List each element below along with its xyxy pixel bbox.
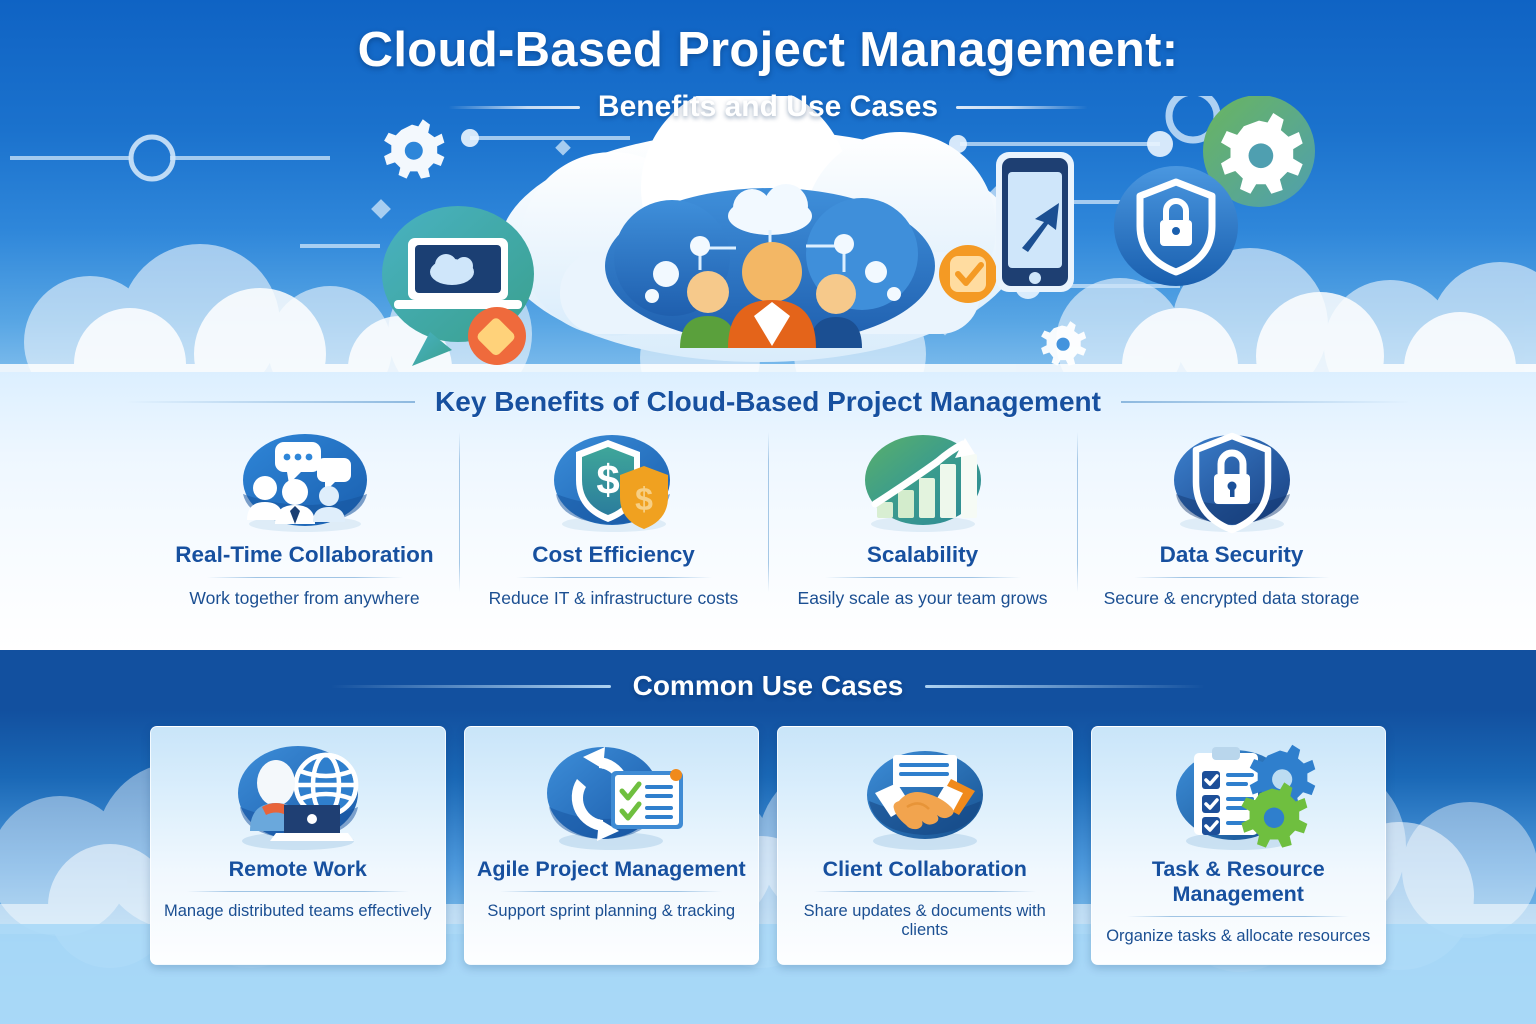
divider [1127, 916, 1349, 917]
shield-lock-icon [1114, 166, 1238, 286]
divider [1134, 577, 1330, 578]
divider [814, 891, 1036, 892]
growth-chart-icon [778, 426, 1067, 538]
usecase-desc: Manage distributed teams effectively [159, 902, 437, 921]
usecases-section: Common Use Cases [0, 650, 1536, 1024]
divider [500, 891, 722, 892]
shield-lock-icon [1087, 426, 1376, 538]
divider [516, 577, 712, 578]
rule-left [448, 106, 580, 109]
usecases-grid: Remote Work Manage distributed teams eff… [0, 702, 1536, 965]
benefits-heading-row: Key Benefits of Cloud-Based Project Mana… [0, 372, 1536, 418]
usecase-title: Remote Work [159, 857, 437, 882]
benefit-desc: Secure & encrypted data storage [1087, 588, 1376, 609]
clipboard-gears-icon [1100, 739, 1378, 855]
usecase-desc: Organize tasks & allocate resources [1100, 927, 1378, 946]
check-circle-icon [939, 245, 997, 303]
benefits-grid: Real-Time Collaboration Work together fr… [0, 426, 1536, 609]
shield-dollar-icon: $ $ [469, 426, 758, 538]
rule-right [956, 106, 1088, 109]
hero-section: Cloud-Based Project Management: Benefits… [0, 0, 1536, 372]
benefit-title: Cost Efficiency [469, 542, 758, 568]
benefit-desc: Reduce IT & infrastructure costs [469, 588, 758, 609]
usecase-desc: Support sprint planning & tracking [473, 902, 751, 921]
benefit-item-cost-efficiency[interactable]: $ $ Cost Efficiency Reduce IT & infrastr… [459, 426, 768, 609]
sync-checklist-icon [473, 739, 751, 855]
benefits-heading: Key Benefits of Cloud-Based Project Mana… [435, 386, 1101, 418]
hero-title-block: Cloud-Based Project Management: Benefits… [0, 0, 1536, 124]
benefit-title: Real-Time Collaboration [160, 542, 449, 568]
benefit-title: Data Security [1087, 542, 1376, 568]
hero-subtitle-row: Benefits and Use Cases [0, 90, 1536, 124]
divider [207, 577, 403, 578]
rule-left [125, 401, 415, 403]
divider [187, 891, 409, 892]
usecase-title: Client Collaboration [786, 857, 1064, 882]
usecase-card-remote-work[interactable]: Remote Work Manage distributed teams eff… [150, 726, 446, 965]
usecase-card-agile[interactable]: Agile Project Management Support sprint … [464, 726, 760, 965]
rule-right [1121, 401, 1411, 403]
usecases-heading-row: Common Use Cases [0, 650, 1536, 702]
svg-text:$: $ [635, 481, 653, 517]
rule-left [331, 685, 611, 688]
handshake-document-icon [786, 739, 1064, 855]
divider [825, 577, 1021, 578]
remote-worker-globe-icon [159, 739, 437, 855]
benefit-item-scalability[interactable]: Scalability Easily scale as your team gr… [768, 426, 1077, 609]
benefit-desc: Work together from anywhere [160, 588, 449, 609]
svg-text:$: $ [596, 456, 619, 503]
page-subtitle: Benefits and Use Cases [598, 90, 938, 124]
usecase-card-task-resource[interactable]: Task & Resource Management Organize task… [1091, 726, 1387, 965]
benefit-desc: Easily scale as your team grows [778, 588, 1067, 609]
usecases-heading: Common Use Cases [633, 670, 904, 702]
benefit-item-collaboration[interactable]: Real-Time Collaboration Work together fr… [150, 426, 459, 609]
checkmark-badge-icon [468, 307, 526, 365]
usecase-desc: Share updates & documents with clients [786, 902, 1064, 940]
usecase-card-client-collaboration[interactable]: Client Collaboration Share updates & doc… [777, 726, 1073, 965]
benefit-item-data-security[interactable]: Data Security Secure & encrypted data st… [1077, 426, 1386, 609]
collaboration-chat-icon [160, 426, 449, 538]
usecase-title: Task & Resource Management [1100, 857, 1378, 907]
rule-right [925, 685, 1205, 688]
hero-illustration [0, 96, 1536, 372]
smartphone-chart-icon [996, 152, 1074, 292]
page-title: Cloud-Based Project Management: [0, 22, 1536, 78]
infographic-root: Cloud-Based Project Management: Benefits… [0, 0, 1536, 1024]
usecase-title: Agile Project Management [473, 857, 751, 882]
checklist-card-icon [611, 769, 683, 829]
benefit-title: Scalability [778, 542, 1067, 568]
benefits-section: Key Benefits of Cloud-Based Project Mana… [0, 372, 1536, 650]
